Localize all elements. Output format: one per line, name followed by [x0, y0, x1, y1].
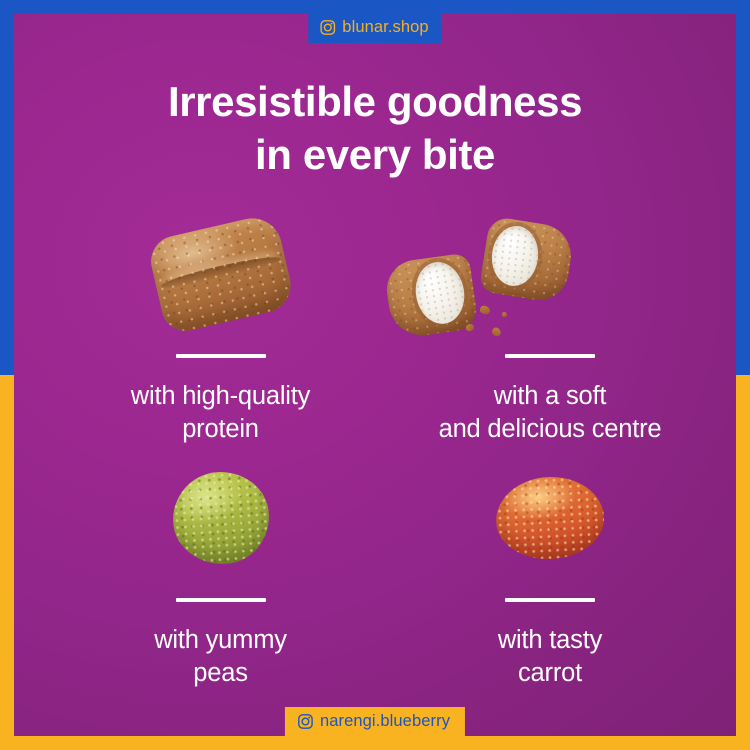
feature-carrot: with tasty carrot — [380, 444, 720, 689]
crumb — [502, 312, 507, 317]
crumb — [490, 326, 502, 338]
caption-line-2: protein — [58, 413, 383, 446]
caption-line-1: with a soft — [380, 380, 720, 413]
caption-divider — [176, 354, 266, 358]
pea-shape — [169, 469, 271, 567]
pea-kibble-image — [58, 444, 383, 592]
headline-line-2: in every bite — [14, 129, 736, 182]
caption-line-2: peas — [58, 657, 383, 690]
caption-divider — [505, 354, 595, 358]
instagram-icon — [297, 713, 314, 730]
caption-line-2: carrot — [380, 657, 720, 690]
feature-caption: with high-quality protein — [58, 380, 383, 445]
caption-divider — [505, 598, 595, 602]
instagram-handle-top-label: blunar.shop — [342, 18, 428, 37]
feature-peas: with yummy peas — [58, 444, 383, 689]
feature-caption: with tasty carrot — [380, 624, 720, 689]
instagram-handle-badge-bottom[interactable]: narengi.blueberry — [285, 707, 465, 736]
crumb — [479, 305, 491, 316]
feature-soft-centre: with a soft and delicious centre — [380, 200, 720, 445]
biscuit-shape — [145, 212, 295, 335]
feature-protein: with high-quality protein — [58, 200, 383, 445]
instagram-icon — [319, 19, 336, 36]
caption-line-2: and delicious centre — [380, 413, 720, 446]
headline-line-1: Irresistible goodness — [168, 78, 582, 125]
whole-biscuit-image — [58, 200, 383, 348]
caption-line-1: with tasty — [380, 624, 720, 657]
caption-line-1: with yummy — [58, 624, 383, 657]
split-biscuit-image — [380, 200, 720, 348]
caption-divider — [176, 598, 266, 602]
instagram-handle-badge-top[interactable]: blunar.shop — [308, 14, 441, 43]
page-title: Irresistible goodness in every bite — [14, 76, 736, 182]
content-stage: blunar.shop Irresistible goodness in eve… — [14, 14, 736, 736]
feature-caption: with a soft and delicious centre — [380, 380, 720, 445]
carrot-kibble-image — [380, 444, 720, 592]
instagram-handle-bottom-label: narengi.blueberry — [320, 712, 450, 731]
caption-line-1: with high-quality — [58, 380, 383, 413]
carrot-shape — [494, 474, 606, 562]
feature-caption: with yummy peas — [58, 624, 383, 689]
promo-graphic: blunar.shop Irresistible goodness in eve… — [0, 0, 750, 750]
